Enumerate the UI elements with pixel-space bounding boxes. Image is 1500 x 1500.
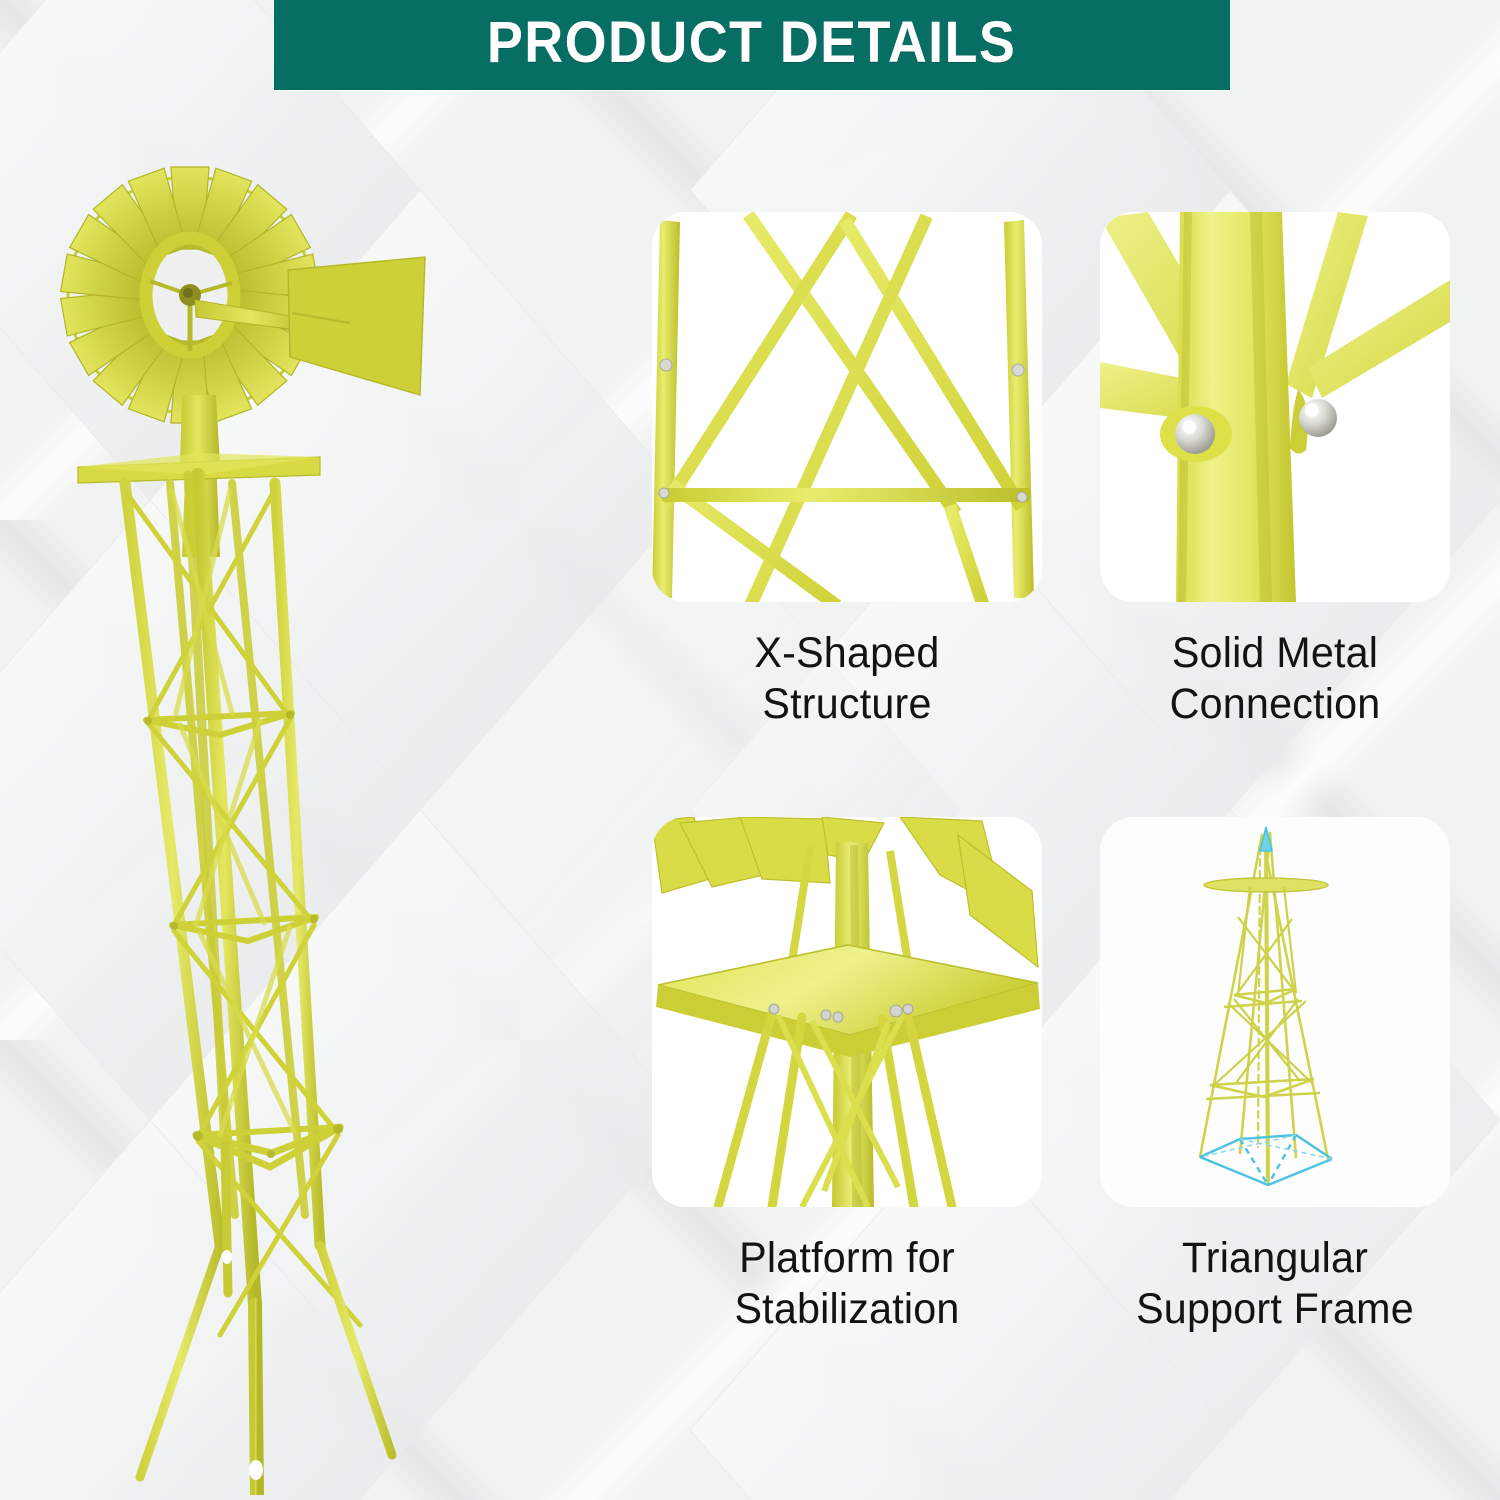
detail-card-triangular-support-frame[interactable] bbox=[1100, 817, 1450, 1207]
rotor-blades bbox=[61, 167, 320, 423]
detail-card-platform-for-stabilization[interactable] bbox=[652, 817, 1042, 1207]
detail-card-solid-metal-connection[interactable] bbox=[1100, 212, 1450, 602]
triangular-support-frame-diagram bbox=[1100, 817, 1450, 1207]
page-title: PRODUCT DETAILS bbox=[487, 14, 1016, 76]
lattice-tower bbox=[125, 475, 392, 1495]
caption-solid-metal-connection: Solid Metal Connection bbox=[1107, 602, 1443, 817]
hero-product-image bbox=[20, 95, 620, 1495]
platform-for-stabilization-photo bbox=[652, 817, 1042, 1207]
hub-ring bbox=[146, 238, 234, 352]
solid-metal-connection-photo bbox=[1100, 212, 1450, 602]
detail-cards-grid: X-Shaped Structure Solid Metal Connectio… bbox=[652, 212, 1452, 1372]
bolt-icon bbox=[1175, 414, 1215, 454]
caption-platform-for-stabilization: Platform for Stabilization bbox=[660, 1207, 1034, 1422]
windmill-illustration bbox=[20, 95, 620, 1495]
platform-plate-diagram bbox=[1204, 878, 1328, 892]
caption-triangular-support-frame: Triangular Support Frame bbox=[1107, 1207, 1443, 1422]
bolt-icon bbox=[1299, 399, 1337, 437]
product-details-banner: PRODUCT DETAILS bbox=[274, 0, 1230, 90]
x-shaped-structure-photo bbox=[652, 212, 1042, 602]
caption-x-shaped-structure: X-Shaped Structure bbox=[660, 602, 1034, 817]
detail-card-x-shaped-structure[interactable] bbox=[652, 212, 1042, 602]
